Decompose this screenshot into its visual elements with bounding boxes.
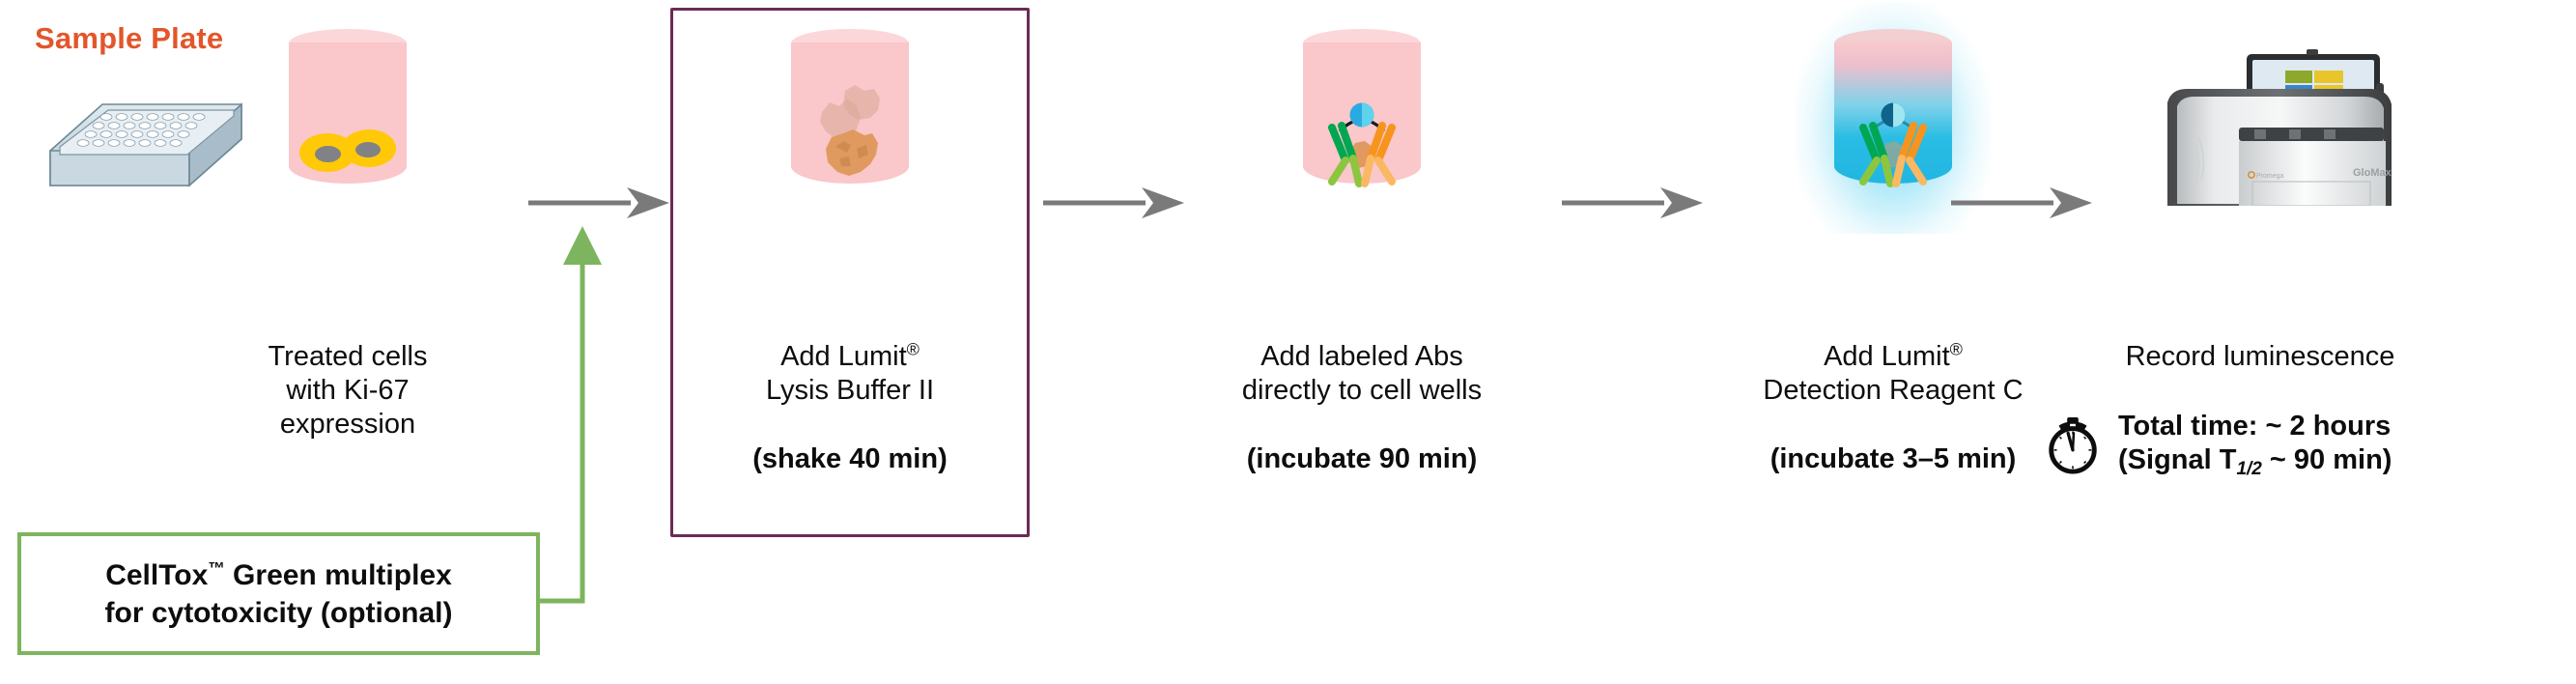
optional-multiplex-connector [536,222,623,604]
step-add-lysis-buffer: Add Lumit® Lysis Buffer II (shake 40 min… [676,0,1024,684]
celltox-note-line-1: CellTox™ Green multiplex [105,556,452,594]
treated-cells-well-icon [174,29,522,203]
step-labeled-abs-emphasis: (incubate 90 min) [1188,442,1536,476]
signal-suffix: ~ 90 min) [2262,444,2392,475]
caption-line: with Ki-67 [174,374,522,408]
flow-arrow-2 [1041,182,1186,224]
signal-halflife-label: (Signal T1/2 ~ 90 min) [2118,443,2392,480]
step-record-caption: Record luminescence [2086,340,2434,374]
step-lysis-emphasis: (shake 40 min) [676,442,1024,476]
caption-line: Add Lumit® [676,340,1024,374]
flow-arrow-3 [1560,182,1705,224]
flow-arrow-4 [1949,182,2094,224]
step-detection-emphasis: (incubate 3–5 min) [1719,442,2067,476]
step-detection-caption: Add Lumit® Detection Reagent C [1719,340,2067,408]
caption-line: directly to cell wells [1188,374,1536,408]
workflow-diagram: Sample Plate [0,0,2576,684]
lysed-protein-blob-icon [818,128,886,185]
caption-line: Add labeled Abs [1188,340,1536,374]
step-labeled-abs-caption: Add labeled Abs directly to cell wells [1188,340,1536,408]
caption-line: Lysis Buffer II [676,374,1024,408]
trademark-icon: ™ [208,558,224,578]
celltox-optional-note: CellTox™ Green multiplex for cytotoxicit… [17,532,540,655]
caption-line: Detection Reagent C [1719,374,2067,408]
lysis-well-icon [676,29,1024,203]
glomax-luminometer-icon: GloMax Promega [2109,17,2428,206]
signal-prefix: (Signal T [2118,444,2236,475]
caption-line: Add Lumit® [1719,340,2067,374]
step-lysis-caption: Add Lumit® Lysis Buffer II [676,340,1024,408]
caption-line: Record luminescence [2086,340,2434,374]
celltox-brand: CellTox [105,559,208,591]
antibody-pair-icon [1834,29,1952,191]
antibody-pair-icon [1303,29,1421,191]
labeled-abs-well-icon [1188,29,1536,203]
nucleus-left-icon [315,146,341,162]
total-time-label: Total time: ~ 2 hours [2118,410,2392,443]
svg-text:GloMax: GloMax [2353,167,2392,179]
caption-line: Treated cells [174,340,522,374]
step-add-detection-reagent: Add Lumit® Detection Reagent C (incubate… [1719,0,2067,684]
nucleus-right-icon [355,142,381,157]
step-treated-cells-caption: Treated cells with Ki-67 expression [174,340,522,442]
celltox-note-line-2: for cytotoxicity (optional) [105,594,453,632]
step-add-labeled-abs: Add labeled Abs directly to cell wells (… [1188,0,1536,684]
svg-text:Promega: Promega [2256,173,2284,180]
total-time-block: Total time: ~ 2 hours (Signal T1/2 ~ 90 … [2043,410,2392,480]
flow-arrow-1 [526,182,671,224]
signal-subscript: 1/2 [2236,459,2261,479]
detection-well-icon [1719,29,2067,203]
celltox-brand-suffix: Green multiplex [225,559,452,591]
stopwatch-icon [2043,415,2103,475]
caption-line: expression [174,408,522,442]
